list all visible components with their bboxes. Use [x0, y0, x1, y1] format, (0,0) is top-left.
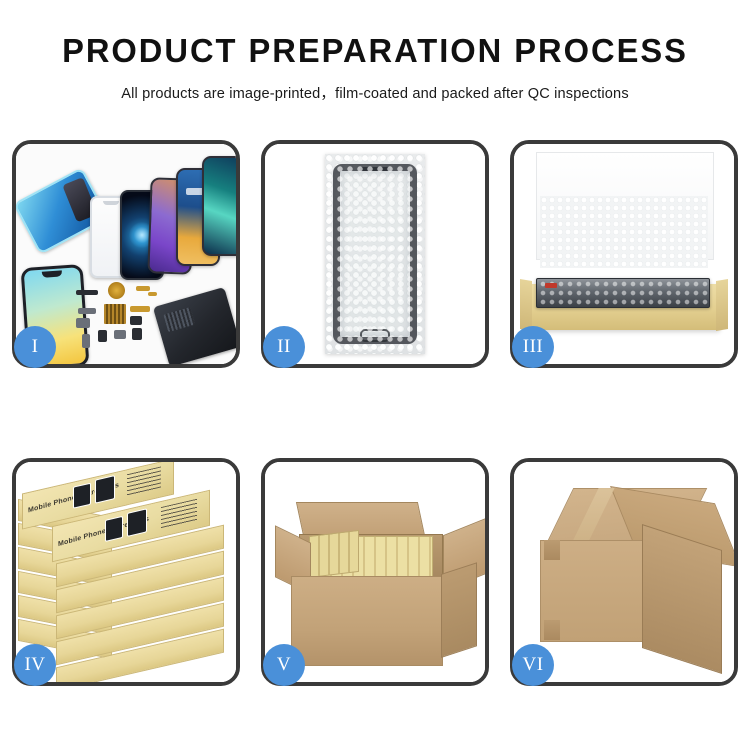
part-flex-strip [76, 290, 98, 295]
page-subtitle: All products are image-printed，film-coat… [0, 82, 750, 103]
part-gold-clip [148, 292, 157, 296]
wrapped-screen-in-box [536, 278, 710, 308]
part-gold-connector [136, 286, 150, 291]
foam-padding [540, 196, 708, 268]
step-badge-3: III [512, 326, 554, 368]
carton-flap-tab-top [544, 540, 560, 560]
kraft-boxes-angled-row [309, 530, 359, 578]
part-vibrator [114, 330, 126, 339]
phone-screen-teal [202, 156, 236, 256]
process-step-panel-4: Mobile Phone Spare Parts Mobile Phone Sp… [12, 458, 240, 686]
red-label-sticker [545, 283, 557, 288]
carton-side-face [642, 524, 722, 674]
step-badge-1: I [14, 326, 56, 368]
part-sim-tray [132, 328, 142, 340]
step-badge-5: V [263, 644, 305, 686]
part-bracket [78, 308, 96, 314]
part-flex-cable [130, 306, 150, 312]
part-ic-chip [130, 316, 142, 325]
spare-parts-group [74, 280, 194, 356]
process-step-panel-3: III [510, 140, 738, 368]
box-spec-lines [127, 466, 161, 496]
step-badge-4: IV [14, 644, 56, 686]
carton-side-face [441, 562, 477, 658]
part-screw-set [82, 334, 90, 348]
bubble-wrap-sheet [325, 154, 425, 354]
page-header: PRODUCT PREPARATION PROCESS All products… [0, 0, 750, 103]
process-step-panel-1: I [12, 140, 240, 368]
process-step-panel-2: II [261, 140, 489, 368]
box-art-phone-2 [127, 508, 147, 537]
process-step-panel-5: V [261, 458, 489, 686]
box-spec-lines [161, 499, 197, 529]
step-badge-2: II [263, 326, 305, 368]
part-camera-module [76, 318, 90, 328]
process-step-grid: I II III [12, 140, 738, 686]
part-button [98, 330, 107, 342]
carton-front-face [291, 576, 443, 666]
carton-flap-tab-bottom [544, 620, 560, 640]
part-chip-array [104, 304, 126, 324]
box-art-phone-2 [95, 475, 115, 504]
box-art-phone-1 [105, 516, 123, 542]
process-step-panel-6: VI [510, 458, 738, 686]
box-art-phone-1 [73, 483, 91, 509]
phone-glass-panel [333, 164, 417, 344]
step-badge-6: VI [512, 644, 554, 686]
part-speaker-coil [108, 282, 125, 299]
page-title: PRODUCT PREPARATION PROCESS [4, 34, 747, 69]
